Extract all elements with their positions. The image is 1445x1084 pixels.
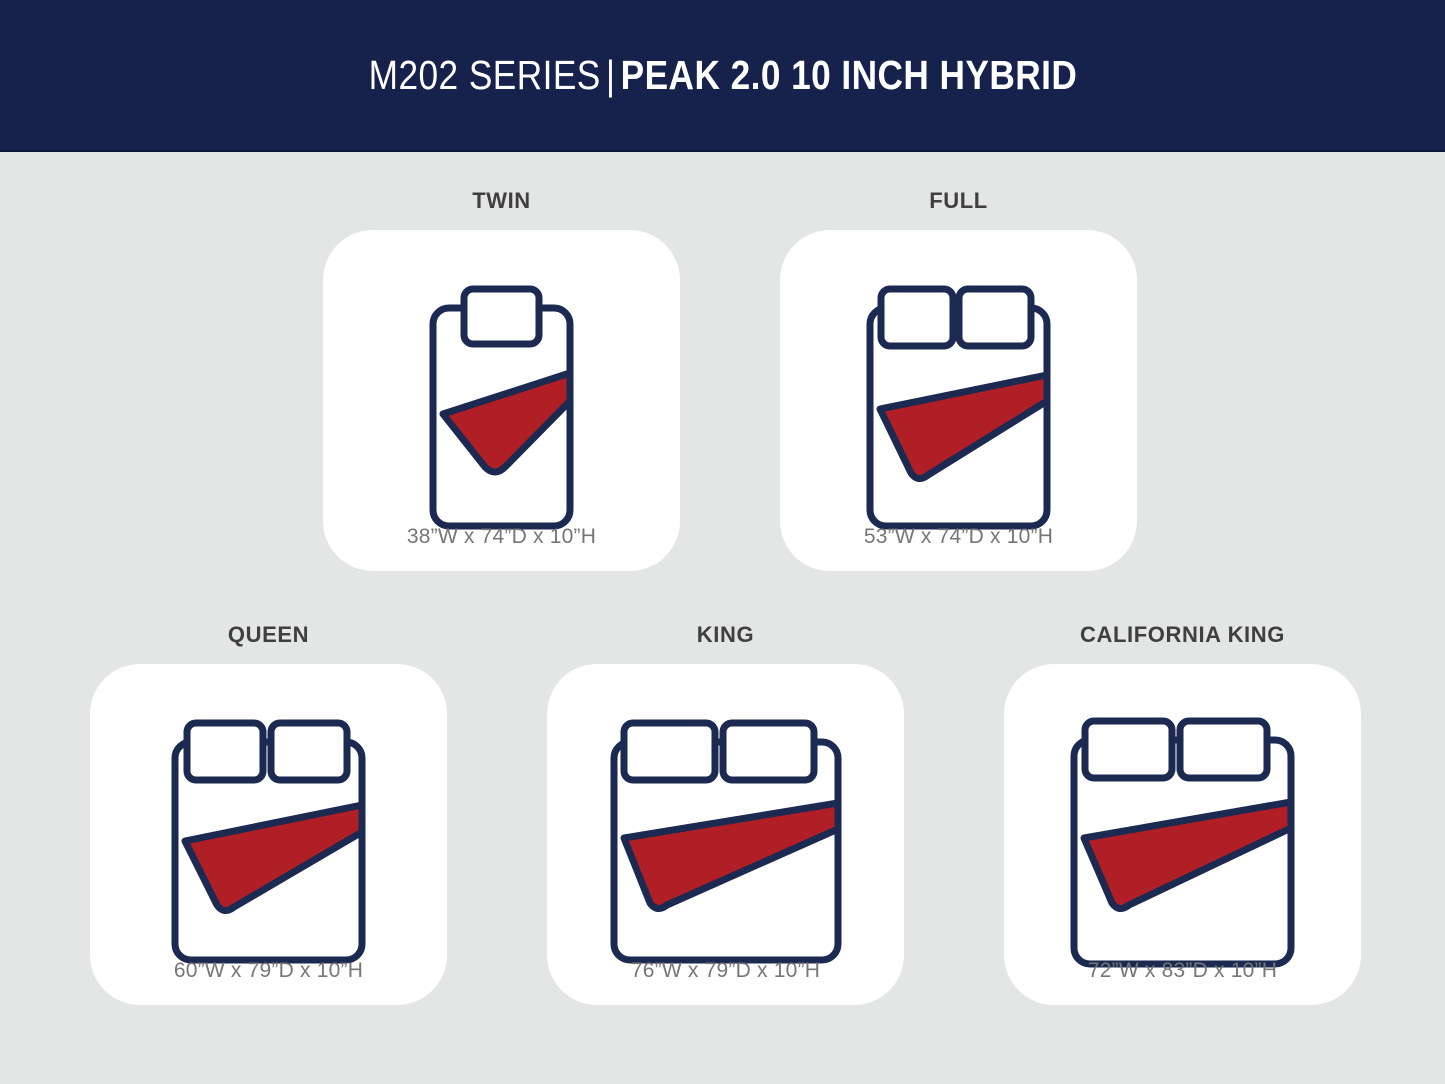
bed-california-king-icon xyxy=(1060,715,1305,970)
size-block-full[interactable]: FULL 53”W x 74”D x 10”H xyxy=(780,188,1137,571)
dimensions-twin: 38”W x 74”D x 10”H xyxy=(323,525,680,549)
size-card-queen[interactable]: 60”W x 79”D x 10”H xyxy=(90,664,447,1005)
size-label-queen: QUEEN xyxy=(228,622,309,648)
size-row-top: TWIN 38”W x 74”D x 10”H FULL xyxy=(323,188,1137,571)
size-card-king[interactable]: 76”W x 79”D x 10”H xyxy=(547,664,904,1005)
page-header: M202 SERIES|PEAK 2.0 10 INCH HYBRID xyxy=(0,0,1445,152)
bed-illustration-wrap xyxy=(1004,679,1361,1005)
title-separator: | xyxy=(600,52,620,98)
size-label-full: FULL xyxy=(929,188,988,214)
size-chart-page: M202 SERIES|PEAK 2.0 10 INCH HYBRID TWIN xyxy=(0,0,1445,1084)
product-name: PEAK 2.0 10 INCH HYBRID xyxy=(620,52,1077,98)
size-block-queen[interactable]: QUEEN 60”W x 79”D x 10”H xyxy=(90,622,447,1005)
size-label-king: KING xyxy=(697,622,754,648)
bed-illustration-wrap xyxy=(780,245,1137,571)
series-label: M202 SERIES xyxy=(368,52,600,98)
bed-illustration-wrap xyxy=(323,245,680,571)
dimensions-queen: 60”W x 79”D x 10”H xyxy=(90,959,447,983)
bed-illustration-wrap xyxy=(90,679,447,1005)
size-card-twin[interactable]: 38”W x 74”D x 10”H xyxy=(323,230,680,571)
size-block-twin[interactable]: TWIN 38”W x 74”D x 10”H xyxy=(323,188,680,571)
bed-full-icon xyxy=(856,283,1061,533)
size-block-king[interactable]: KING 76”W x 79”D x 10”H xyxy=(547,622,904,1005)
dimensions-full: 53”W x 74”D x 10”H xyxy=(780,525,1137,549)
page-title: M202 SERIES|PEAK 2.0 10 INCH HYBRID xyxy=(368,52,1077,99)
bed-king-icon xyxy=(600,717,852,967)
size-label-twin: TWIN xyxy=(472,188,531,214)
dimensions-california-king: 72”W x 83”D x 10”H xyxy=(1004,959,1361,983)
size-row-bottom: QUEEN 60”W x 79”D x 10”H KING xyxy=(90,622,1361,1005)
dimensions-king: 76”W x 79”D x 10”H xyxy=(547,959,904,983)
bed-queen-icon xyxy=(161,717,376,967)
size-card-full[interactable]: 53”W x 74”D x 10”H xyxy=(780,230,1137,571)
size-card-california-king[interactable]: 72”W x 83”D x 10”H xyxy=(1004,664,1361,1005)
size-label-california-king: CALIFORNIA KING xyxy=(1080,622,1285,648)
bed-illustration-wrap xyxy=(547,679,904,1005)
size-block-california-king[interactable]: CALIFORNIA KING 72”W x 83”D x 10”H xyxy=(1004,622,1361,1005)
bed-twin-icon xyxy=(419,283,584,533)
